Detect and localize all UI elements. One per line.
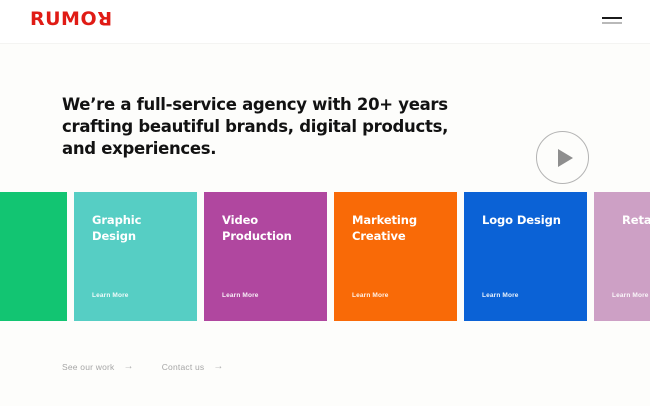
service-card[interactable]: Video ProductionLearn More xyxy=(204,192,327,321)
play-icon xyxy=(558,149,573,167)
service-card[interactable]: Graphic DesignLearn More xyxy=(74,192,197,321)
service-card-title: Logo Design xyxy=(482,213,575,229)
service-card-title: Graphic Design xyxy=(92,213,185,244)
arrow-right-icon: → xyxy=(213,362,223,372)
service-card[interactable]: RetailLearn More xyxy=(594,192,650,321)
footer-links: See our work→Contact us→ xyxy=(62,362,224,372)
service-card-learn-more-link[interactable]: Learn More xyxy=(92,292,129,299)
service-card-title: Video Production xyxy=(222,213,315,244)
service-card-title: s xyxy=(0,219,55,235)
brand-logo-flipped-r: R xyxy=(97,8,112,27)
service-card[interactable]: Logo DesignLearn More xyxy=(464,192,587,321)
play-circle-outline xyxy=(536,131,589,184)
service-card[interactable]: sLearn More xyxy=(0,192,67,321)
hamburger-bar-top xyxy=(602,17,622,19)
play-video-button[interactable] xyxy=(536,131,589,184)
footer-link[interactable]: See our work→ xyxy=(62,362,134,372)
service-card-title: Retail xyxy=(622,213,650,229)
brand-logo[interactable]: RUMOR xyxy=(30,10,112,29)
hero-section: We’re a full-service agency with 20+ yea… xyxy=(0,44,650,192)
arrow-right-icon: → xyxy=(123,362,133,372)
service-card-learn-more-link[interactable]: Learn More xyxy=(222,292,259,299)
site-header: RUMOR xyxy=(0,0,650,44)
service-card-learn-more-link[interactable]: Learn More xyxy=(352,292,389,299)
footer-link[interactable]: Contact us→ xyxy=(162,362,224,372)
service-card[interactable]: Marketing CreativeLearn More xyxy=(334,192,457,321)
footer-link-label: See our work xyxy=(62,362,114,372)
service-card-title: Marketing Creative xyxy=(352,213,445,244)
brand-logo-text: RUMO xyxy=(30,10,97,29)
hamburger-bar-bottom xyxy=(602,22,622,24)
service-card-learn-more-link[interactable]: Learn More xyxy=(612,292,649,299)
page-title: We’re a full-service agency with 20+ yea… xyxy=(62,94,472,159)
service-card-learn-more-link[interactable]: Learn More xyxy=(482,292,519,299)
hamburger-menu-icon[interactable] xyxy=(602,14,622,28)
footer-link-label: Contact us xyxy=(162,362,205,372)
service-card-carousel[interactable]: sLearn MoreGraphic DesignLearn MoreVideo… xyxy=(0,192,650,321)
